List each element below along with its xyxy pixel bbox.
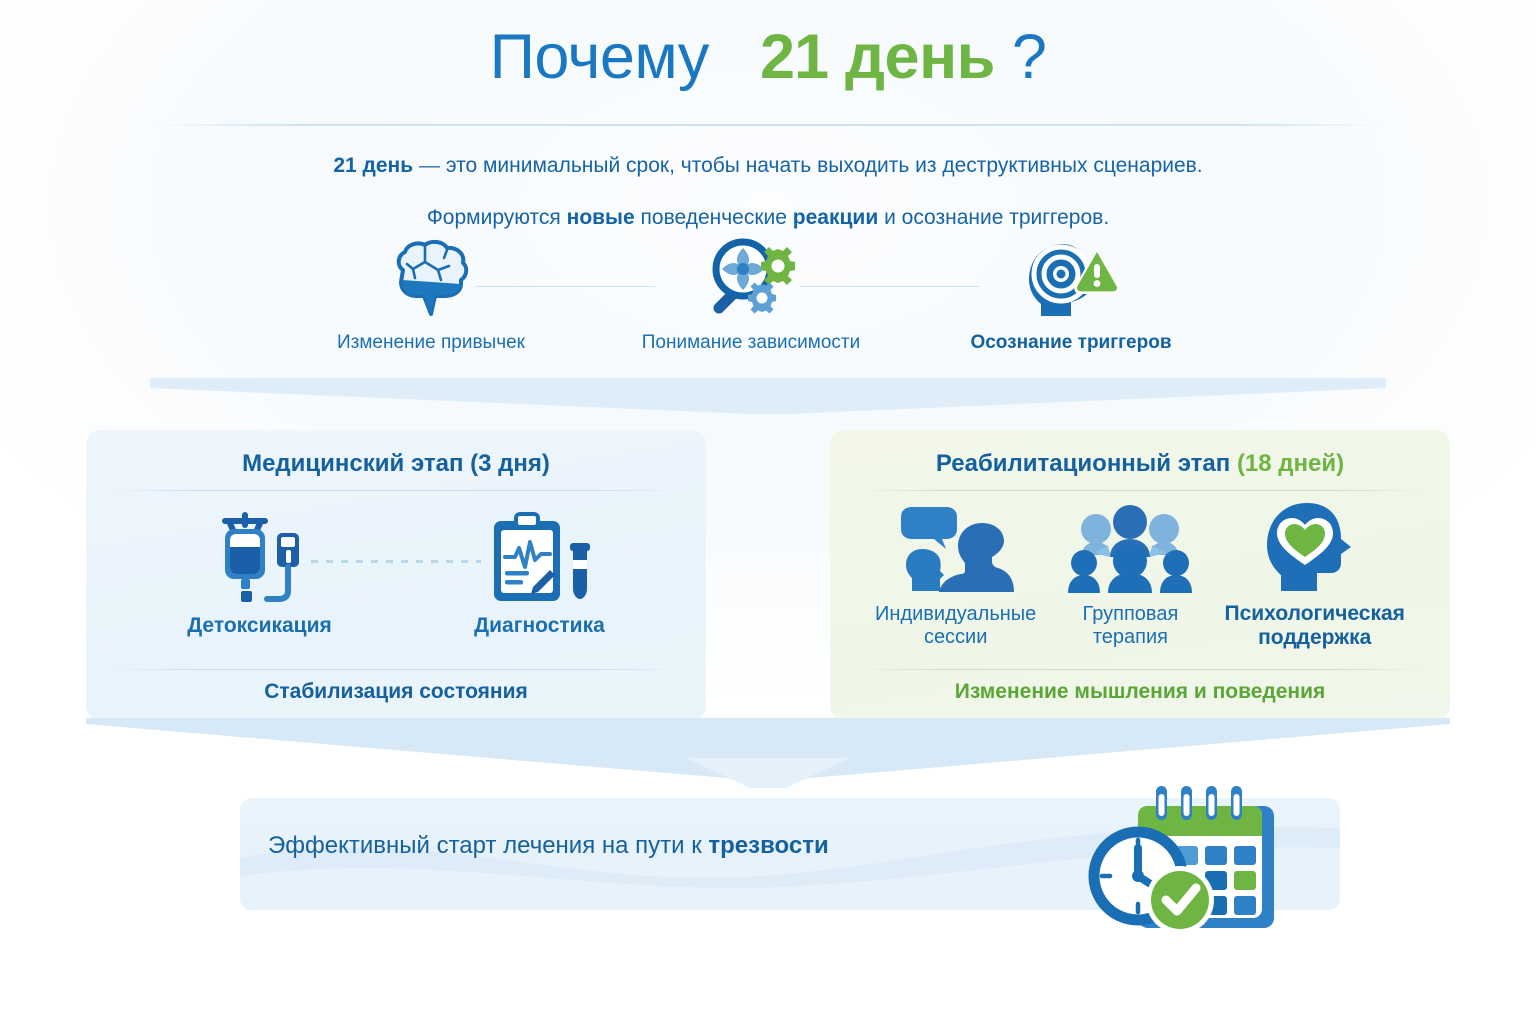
banner-text-a: Эффективный старт лечения на пути к [268, 832, 708, 859]
title-number-21: 21 [760, 22, 828, 92]
top-item-habits[interactable]: Изменение привычек [286, 236, 576, 354]
card-item-detox[interactable]: Детоксикация [187, 510, 332, 638]
card-medical-stage[interactable]: Медицинский этап (3 дня) [86, 430, 706, 720]
head-heart-icon [1259, 498, 1371, 594]
card-item-group-therapy[interactable]: Групповаятерапия [1066, 499, 1194, 649]
magnifier-gears-icon [699, 236, 803, 322]
lead-line1-rest: это минимальный срок, чтобы начать выход… [446, 154, 1203, 177]
card-footer: Стабилизация состояния [112, 670, 680, 704]
lead-paragraph: 21 день — это минимальный срок, чтобы на… [0, 140, 1536, 244]
lead-dash: — [413, 154, 446, 177]
card-item-individual-sessions[interactable]: Индивидуальныесессии [875, 499, 1036, 649]
banner-text-strong: трезвости [708, 832, 828, 859]
head-target-warning-icon [1019, 236, 1123, 322]
top-item-triggers[interactable]: Осознание триггеров [926, 236, 1216, 354]
title-word-pochemu: Почему [490, 22, 709, 92]
lead-line-1: 21 день — это минимальный срок, чтобы на… [0, 140, 1536, 192]
chevron-top-connector [150, 378, 1386, 426]
two-people-speech-icon [896, 499, 1016, 595]
card-body: Детоксикация [112, 491, 680, 657]
card-title: Реабилитационный этап (18 дней) [856, 450, 1424, 478]
dotted-connector [311, 560, 481, 563]
top-icon-row: Изменение привычек [286, 236, 1216, 381]
lead-strong-21den: 21 день [333, 154, 413, 177]
calendar-clock-check-icon [1068, 778, 1308, 948]
top-item-understanding[interactable]: Понимание зависимости [606, 236, 896, 354]
title-word-den: день [845, 22, 995, 92]
card-title-accent: (18 дней) [1237, 450, 1344, 477]
lead-strong-novye: новые [567, 206, 635, 229]
card-item-psychological-support[interactable]: Психологическаяподдержка [1225, 498, 1405, 650]
clipboard-testtube-icon [480, 510, 598, 606]
card-item-label: Детоксикация [187, 614, 332, 638]
card-title-main: Реабилитационный этап [936, 450, 1237, 477]
card-body: Индивидуальныесессии [856, 491, 1424, 657]
card-rehabilitation-stage[interactable]: Реабилитационный этап (18 дней) [830, 430, 1450, 720]
card-item-label: Психологическаяподдержка [1225, 602, 1405, 650]
card-item-label: Индивидуальныесессии [875, 603, 1036, 649]
brain-icon [383, 236, 479, 322]
top-item-label: Осознание триггеров [970, 332, 1171, 354]
lead-line2-a: Формируются [427, 206, 567, 229]
top-item-label: Понимание зависимости [642, 332, 860, 354]
lead-line2-c: поведенческие [635, 206, 793, 229]
card-item-diagnostics[interactable]: Диагностика [474, 510, 605, 638]
card-title-main: Медицинский этап (3 дня) [242, 450, 550, 477]
card-footer: Изменение мышления и поведения [856, 670, 1424, 704]
iv-drip-icon [203, 510, 315, 606]
page-title: Почему 21 день ? [0, 24, 1536, 90]
lead-strong-reakcii: реакции [793, 206, 878, 229]
top-item-label: Изменение привычек [337, 332, 525, 354]
title-divider [152, 124, 1384, 126]
lead-line2-d: и осознание триггеров. [878, 206, 1109, 229]
card-title: Медицинский этап (3 дня) [112, 450, 680, 478]
infographic-canvas: Почему 21 день ? 21 день — это минимальн… [0, 0, 1536, 1024]
card-item-label: Диагностика [474, 614, 605, 638]
banner-text: Эффективный старт лечения на пути к трез… [268, 832, 829, 860]
group-people-icon [1066, 499, 1194, 595]
title-question-mark: ? [1012, 22, 1047, 92]
stages-cards: Медицинский этап (3 дня) [86, 430, 1450, 720]
card-item-label: Групповаятерапия [1083, 603, 1179, 649]
